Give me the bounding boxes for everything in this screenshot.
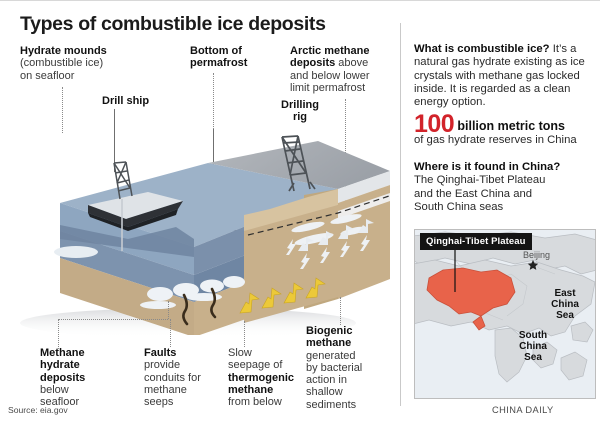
callout-methane-hydrate-line2: hydrate bbox=[40, 359, 80, 371]
callout-biogenic-line6: shallow bbox=[306, 386, 343, 398]
map-label-south-china-sea: South China Sea bbox=[511, 330, 555, 363]
sidebar-definition-question: What is combustible ice? bbox=[414, 43, 550, 55]
callout-biogenic-line7: sediments bbox=[306, 399, 356, 411]
callout-hydrate-mounds-line1: (combustible ice) bbox=[20, 57, 103, 69]
callout-thermogenic-line3: thermogenic bbox=[228, 372, 294, 384]
sidebar-location-line3: South China seas bbox=[414, 201, 503, 213]
callout-hydrate-mounds: Hydrate mounds (combustible ice) on seaf… bbox=[20, 45, 130, 82]
callout-arctic-methane-line1: Arctic methane bbox=[290, 45, 369, 57]
china-map: Qinghai-Tibet Plateau Beijing East China… bbox=[414, 229, 596, 399]
callout-faults-line1: provide bbox=[144, 359, 180, 371]
callout-faults-line3: methane bbox=[144, 384, 187, 396]
callout-thermogenic-line2: seepage of bbox=[228, 359, 282, 371]
callout-biogenic-line5: action in bbox=[306, 374, 347, 386]
callout-drill-ship-title: Drill ship bbox=[102, 95, 149, 107]
publisher-credit: CHINA DAILY bbox=[492, 405, 554, 415]
callout-biogenic-line2: methane bbox=[306, 337, 351, 349]
map-label-beijing: Beijing bbox=[523, 250, 550, 261]
sidebar-location-line1: The Qinghai-Tibet Plateau bbox=[414, 174, 545, 186]
callout-biogenic-line1: Biogenic bbox=[306, 325, 352, 337]
leader-thermogenic bbox=[244, 321, 245, 347]
page-title: Types of combustible ice deposits bbox=[20, 13, 326, 36]
sidebar-location-line2: and the East China and bbox=[414, 188, 532, 200]
source-credit: Source: eia.gov bbox=[8, 405, 68, 415]
infographic-root: Types of combustible ice deposits Hydrat… bbox=[0, 0, 600, 426]
callout-arctic-methane-line4: limit permafrost bbox=[290, 82, 365, 94]
callout-biogenic-line4: by bacterial bbox=[306, 362, 362, 374]
callout-methane-hydrate-line4: below bbox=[40, 384, 69, 396]
callout-faults-title: Faults bbox=[144, 347, 176, 359]
leader-methane-hydrate-horiz bbox=[58, 319, 168, 320]
sidebar-location-question: Where is it found in China? bbox=[414, 161, 560, 173]
callout-methane-hydrate-line1: Methane bbox=[40, 347, 85, 359]
callout-drilling-rig: Drilling rig bbox=[272, 99, 328, 124]
hydrate-lens-left bbox=[54, 246, 98, 258]
leader-methane-hydrate-riser bbox=[168, 301, 169, 319]
callout-arctic-methane-line3: and below lower bbox=[290, 70, 370, 82]
map-label-scs-line1: South bbox=[519, 330, 547, 341]
callout-arctic-methane: Arctic methane deposits above and below … bbox=[290, 45, 396, 94]
map-title-box: Qinghai-Tibet Plateau bbox=[420, 233, 532, 250]
leader-faults bbox=[170, 319, 171, 347]
leader-biogenic bbox=[340, 297, 341, 325]
statistic-unit: billion metric tons bbox=[457, 119, 565, 133]
callout-bottom-permafrost-line2: permafrost bbox=[190, 57, 247, 69]
map-label-ecs-line3: Sea bbox=[556, 310, 574, 321]
callout-thermogenic-methane: Slow seepage of thermogenic methane from… bbox=[228, 347, 308, 408]
callout-biogenic-line3: generated bbox=[306, 350, 356, 362]
leader-bottom-permafrost-upper bbox=[213, 73, 214, 129]
sidebar-definition: What is combustible ice? It’s a natural … bbox=[414, 43, 592, 109]
column-divider bbox=[400, 23, 401, 406]
callout-drilling-rig-line1: Drilling bbox=[281, 99, 319, 111]
map-label-ecs-line2: China bbox=[551, 299, 579, 310]
callout-hydrate-mounds-title: Hydrate mounds bbox=[20, 45, 107, 57]
statistic-caption: of gas hydrate reserves in China bbox=[414, 134, 577, 146]
sidebar-location: Where is it found in China? The Qinghai-… bbox=[414, 161, 592, 214]
callout-arctic-methane-line2: deposits bbox=[290, 57, 335, 69]
callout-thermogenic-line4: methane bbox=[228, 384, 273, 396]
callout-bottom-permafrost: Bottom of permafrost bbox=[190, 45, 285, 70]
callout-drilling-rig-line2: rig bbox=[293, 111, 307, 123]
callout-bottom-permafrost-line1: Bottom of bbox=[190, 45, 242, 57]
sidebar-statistic: 100 billion metric tons of gas hydrate r… bbox=[414, 118, 592, 148]
callout-arctic-methane-line2b: above bbox=[335, 57, 368, 69]
callout-hydrate-mounds-line2: on seafloor bbox=[20, 70, 74, 82]
leader-methane-hydrate bbox=[58, 319, 59, 349]
map-label-ecs-line1: East bbox=[554, 288, 575, 299]
callout-thermogenic-line1: Slow bbox=[228, 347, 252, 359]
map-label-east-china-sea: East China Sea bbox=[543, 288, 587, 321]
callout-methane-hydrate-deposits: Methane hydrate deposits below seafloor bbox=[40, 347, 120, 408]
callout-faults-line4: seeps bbox=[144, 396, 173, 408]
callout-methane-hydrate-line3: deposits bbox=[40, 372, 85, 384]
callout-faults: Faults provide conduits for methane seep… bbox=[144, 347, 222, 408]
callout-faults-line2: conduits for bbox=[144, 372, 201, 384]
callout-biogenic-methane: Biogenic methane generated by bacterial … bbox=[306, 325, 392, 411]
map-label-scs-line2: China bbox=[519, 341, 547, 352]
map-label-scs-line3: Sea bbox=[524, 352, 542, 363]
callout-thermogenic-line5: from below bbox=[228, 396, 282, 408]
callout-drill-ship: Drill ship bbox=[102, 95, 149, 107]
